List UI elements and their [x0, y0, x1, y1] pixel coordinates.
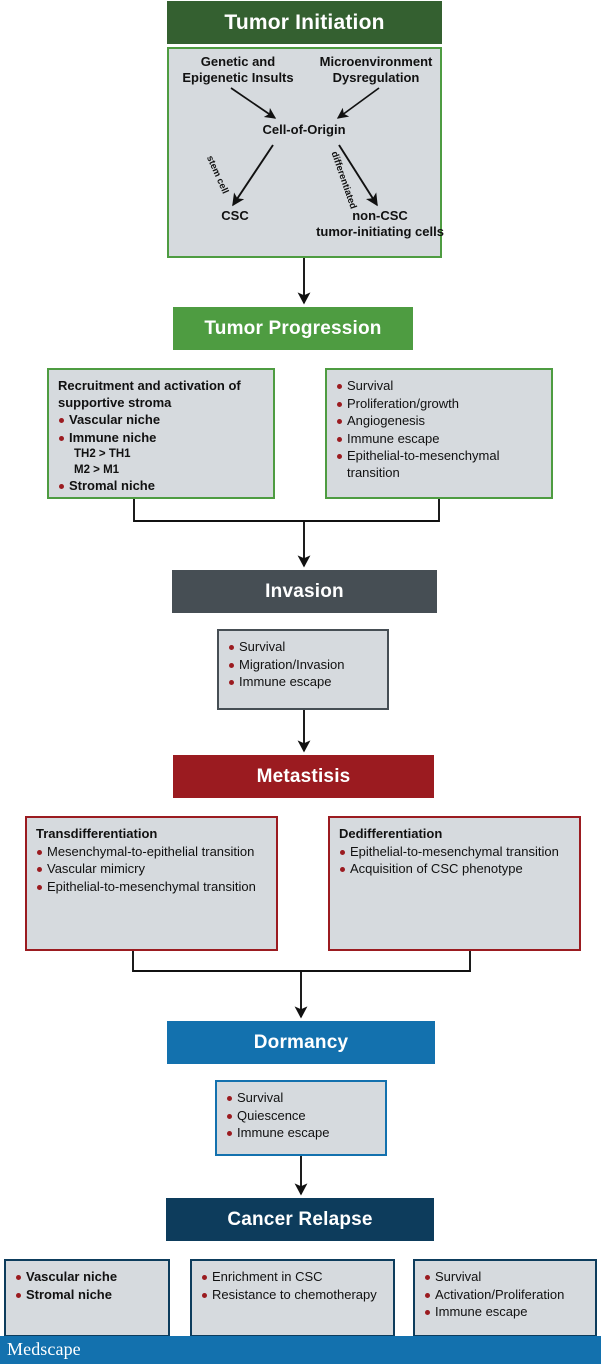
panel-transdifferentiation: Transdifferentiation Mesenchymal-to-epit…: [25, 816, 278, 951]
list-item: Immune niche: [58, 430, 264, 447]
list-item: Epithelial-to-mesenchymal transition: [339, 844, 570, 861]
list-item: Angiogenesis: [336, 413, 542, 430]
node-non-csc-tumor-initiating-cells: non-CSC tumor-initiating cells: [308, 208, 452, 241]
list-item: Migration/Invasion: [228, 657, 378, 674]
list-item: M2 > M1: [58, 463, 264, 478]
stage-banner-dormancy: Dormancy: [167, 1021, 435, 1064]
panel-relapse-csc: Enrichment in CSCResistance to chemother…: [190, 1259, 395, 1337]
list-item: Immune escape: [424, 1304, 586, 1321]
panel-dedifferentiation: Dedifferentiation Epithelial-to-mesenchy…: [328, 816, 581, 951]
list-item: Epithelial-to-mesenchymal transition: [336, 448, 542, 481]
list-item: Immune escape: [336, 431, 542, 448]
node-microenvironment-dysregulation: Microenvironment Dysregulation: [308, 54, 444, 87]
list-item: Acquisition of CSC phenotype: [339, 861, 570, 878]
stage-banner-tumor-progression: Tumor Progression: [173, 307, 413, 350]
stage-banner-invasion: Invasion: [172, 570, 437, 613]
list-item: Vascular niche: [15, 1269, 159, 1286]
flowchart-canvas: Tumor Initiation Genetic and Epigenetic …: [0, 0, 601, 1364]
list-item: Stromal niche: [15, 1287, 159, 1304]
bullet-list: SurvivalMigration/InvasionImmune escape: [228, 639, 378, 691]
bullet-list: SurvivalProliferation/growthAngiogenesis…: [336, 378, 542, 481]
node-cell-of-origin: Cell-of-Origin: [232, 122, 376, 138]
list-item: Activation/Proliferation: [424, 1287, 586, 1304]
panel-progression-stroma: Recruitment and activation of supportive…: [47, 368, 275, 499]
list-item: Proliferation/growth: [336, 396, 542, 413]
stage-banner-cancer-relapse: Cancer Relapse: [166, 1198, 434, 1241]
list-item: TH2 > TH1: [58, 447, 264, 462]
list-item: Survival: [228, 639, 378, 656]
panel-relapse-niches: Vascular nicheStromal niche: [4, 1259, 170, 1337]
panel-heading: Recruitment and activation of supportive…: [58, 378, 264, 411]
stage-banner-metastisis: Metastisis: [173, 755, 434, 798]
bullet-list: SurvivalQuiescenceImmune escape: [226, 1090, 376, 1142]
bullet-list: Mesenchymal-to-epithelial transitionVasc…: [36, 844, 267, 896]
node-csc: CSC: [196, 208, 274, 224]
panel-heading: Dedifferentiation: [339, 826, 570, 843]
list-item: Survival: [424, 1269, 586, 1286]
list-item: Survival: [336, 378, 542, 395]
list-item: Enrichment in CSC: [201, 1269, 384, 1286]
bullet-list: Vascular nicheStromal niche: [15, 1269, 159, 1303]
list-item: Immune escape: [226, 1125, 376, 1142]
bullet-list: Epithelial-to-mesenchymal transitionAcqu…: [339, 844, 570, 878]
list-item: Epithelial-to-mesenchymal transition: [36, 879, 267, 896]
panel-invasion: SurvivalMigration/InvasionImmune escape: [217, 629, 389, 710]
list-item: Resistance to chemotherapy: [201, 1287, 384, 1304]
list-item: Survival: [226, 1090, 376, 1107]
node-genetic-epigenetic-insults: Genetic and Epigenetic Insults: [176, 54, 300, 87]
list-item: Vascular niche: [58, 412, 264, 429]
bullet-list: Vascular nicheImmune nicheTH2 > TH1M2 > …: [58, 412, 264, 495]
stage-banner-tumor-initiation: Tumor Initiation: [167, 1, 442, 44]
list-item: Vascular mimicry: [36, 861, 267, 878]
panel-heading: Transdifferentiation: [36, 826, 267, 843]
panel-dormancy: SurvivalQuiescenceImmune escape: [215, 1080, 387, 1156]
panel-relapse-survival: SurvivalActivation/ProliferationImmune e…: [413, 1259, 597, 1337]
footer-bar: Medscape: [0, 1336, 601, 1364]
bracket-metastisis-to-dormancy: [133, 951, 470, 971]
bullet-list: SurvivalActivation/ProliferationImmune e…: [424, 1269, 586, 1321]
bracket-progression-to-invasion: [134, 499, 439, 521]
panel-progression-hallmarks: SurvivalProliferation/growthAngiogenesis…: [325, 368, 553, 499]
list-item: Stromal niche: [58, 478, 264, 495]
list-item: Quiescence: [226, 1108, 376, 1125]
list-item: Immune escape: [228, 674, 378, 691]
bullet-list: Enrichment in CSCResistance to chemother…: [201, 1269, 384, 1303]
medscape-watermark: Medscape: [7, 1339, 81, 1360]
list-item: Mesenchymal-to-epithelial transition: [36, 844, 267, 861]
